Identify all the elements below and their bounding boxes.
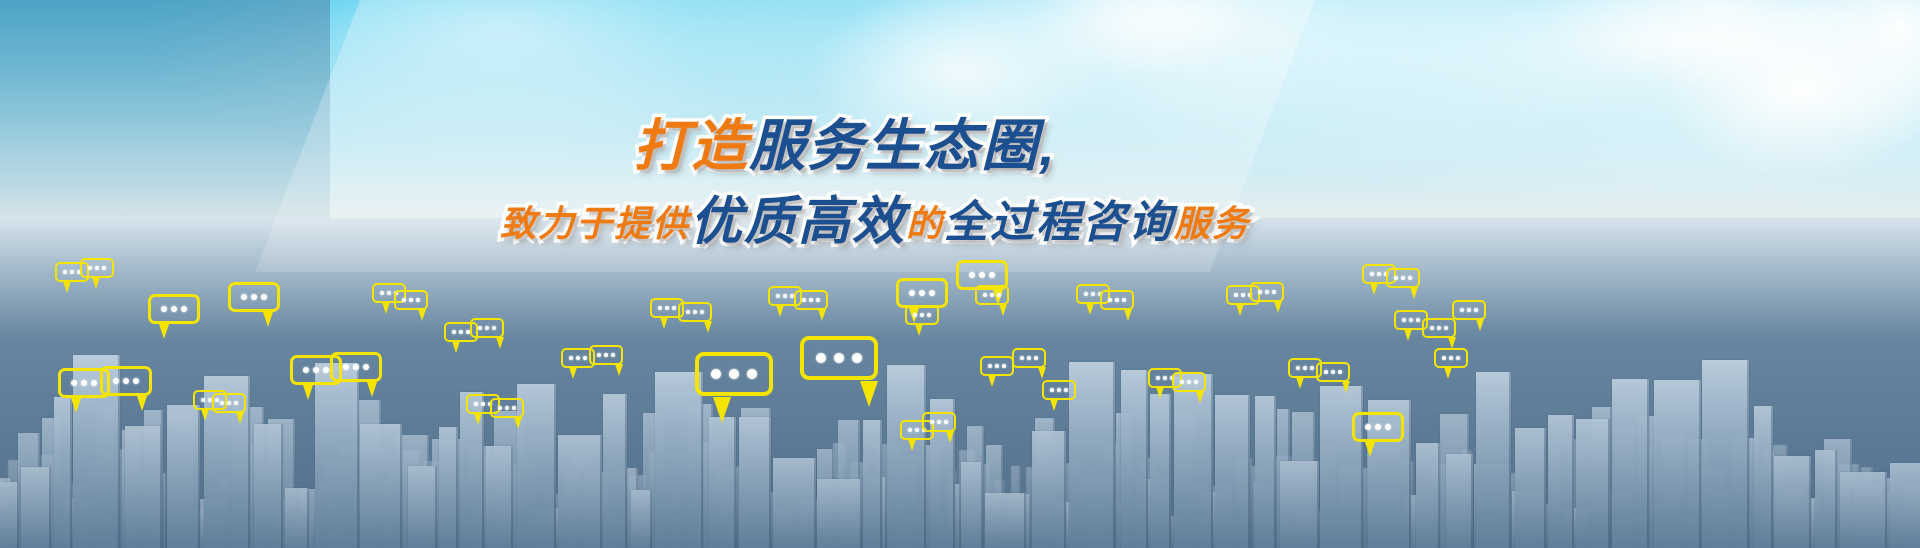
bubble-tail-icon [514, 417, 522, 429]
bubble-tail-icon [1476, 319, 1484, 331]
bubble-tail-icon [236, 412, 244, 424]
bubble-dot-icon [1187, 380, 1191, 384]
speech-bubble-icon [1012, 348, 1046, 368]
bubble-dot-icon [81, 380, 87, 386]
bubble-dot-icon [989, 272, 995, 278]
bubble-tail-icon [159, 324, 169, 339]
speech-bubble-icon [905, 305, 939, 325]
bubble-tail-icon [92, 277, 100, 289]
bubble-dot-icon [1467, 308, 1471, 312]
speech-bubble-icon [330, 352, 382, 382]
bubble-tail-icon [713, 397, 731, 423]
headline-line-1: 打造服务生态圈, [0, 118, 1920, 174]
bubble-dot-icon [1331, 370, 1335, 374]
speech-bubble-icon [1250, 282, 1284, 302]
bubble-dot-icon [937, 420, 941, 424]
bubble-dot-icon [809, 298, 813, 302]
bubble-tail-icon [1156, 387, 1164, 399]
headline-segment: 服务 [1174, 206, 1250, 242]
speech-bubble-icon [1434, 348, 1468, 368]
bubble-dot-icon [71, 380, 77, 386]
speech-bubble-icon [896, 278, 948, 308]
bubble-dot-icon [802, 298, 806, 302]
speech-bubble-icon [148, 294, 200, 324]
bubble-tail-icon [1086, 303, 1094, 315]
bubble-dot-icon [251, 294, 257, 300]
bubble-dot-icon [1310, 366, 1314, 370]
bubble-tail-icon [1050, 399, 1058, 411]
bubble-dot-icon [834, 353, 844, 363]
bubble-dot-icon [930, 420, 934, 424]
bubble-dot-icon [597, 353, 601, 357]
bubble-dot-icon [747, 369, 757, 379]
speech-bubble-icon [695, 352, 773, 396]
bubble-tail-icon [1296, 377, 1304, 389]
bubble-tail-icon [71, 398, 81, 413]
bubble-dot-icon [505, 406, 509, 410]
bubble-tail-icon [496, 337, 504, 349]
bubble-tail-icon [452, 341, 460, 353]
bubble-dot-icon [1456, 356, 1460, 360]
speech-bubble-icon [794, 290, 828, 310]
speech-bubble-icon [975, 285, 1009, 305]
bubble-dot-icon [604, 353, 608, 357]
bubble-tail-icon [915, 324, 923, 336]
bubble-tail-icon [1365, 442, 1375, 457]
bubble-dot-icon [909, 290, 915, 296]
bubble-dot-icon [343, 364, 349, 370]
bubble-dot-icon [113, 378, 119, 384]
bubble-dot-icon [990, 293, 994, 297]
bubble-tail-icon [908, 439, 916, 451]
speech-bubble-icon [212, 393, 246, 413]
bubble-tail-icon [660, 317, 668, 329]
bubble-tail-icon [201, 409, 209, 421]
bubble-tail-icon [1444, 367, 1452, 379]
speech-bubble-icon [470, 318, 504, 338]
bubble-tail-icon [1124, 309, 1132, 321]
bubble-dot-icon [1020, 356, 1024, 360]
bubble-tail-icon [704, 321, 712, 333]
speech-bubble-icon [1386, 268, 1420, 288]
bubble-dot-icon [220, 401, 224, 405]
bubble-tail-icon [1038, 367, 1046, 379]
headline-segment: 服务生态圈, [749, 118, 1057, 174]
speech-bubble-icon [1452, 300, 1486, 320]
bubble-tail-icon [1410, 287, 1418, 299]
bubble-dot-icon [1180, 380, 1184, 384]
bubble-tail-icon [1236, 304, 1244, 316]
bubble-tail-icon [999, 304, 1007, 316]
bubble-dot-icon [1265, 290, 1269, 294]
bubble-tail-icon [1342, 381, 1350, 393]
bubble-dot-icon [929, 290, 935, 296]
bubble-dot-icon [261, 294, 267, 300]
bubble-tail-icon [303, 385, 313, 400]
bubble-tail-icon [776, 305, 784, 317]
bubble-dot-icon [133, 378, 139, 384]
bubble-dot-icon [693, 310, 697, 314]
speech-bubble-icon [80, 258, 114, 278]
bubble-dot-icon [729, 369, 739, 379]
bubble-dot-icon [241, 294, 247, 300]
speech-bubble-icon [922, 412, 956, 432]
bubble-dot-icon [303, 367, 309, 373]
bubble-dot-icon [1385, 424, 1391, 430]
bubble-dot-icon [672, 306, 676, 310]
bubble-dot-icon [583, 356, 587, 360]
bubble-dot-icon [402, 298, 406, 302]
bubble-tail-icon [382, 302, 390, 314]
bubble-tail-icon [1404, 329, 1412, 341]
bubble-tail-icon [988, 375, 996, 387]
bubble-dot-icon [123, 378, 129, 384]
bubble-tail-icon [1370, 283, 1378, 295]
bubble-dot-icon [686, 310, 690, 314]
headline-line-2: 致力于提供优质高效的全过程咨询服务 [0, 196, 1920, 248]
bubble-tail-icon [1274, 301, 1282, 313]
bubble-dot-icon [1108, 298, 1112, 302]
bubble-dot-icon [181, 306, 187, 312]
speech-bubble-icon [394, 290, 428, 310]
bubble-dot-icon [919, 290, 925, 296]
bubble-dot-icon [1324, 370, 1328, 374]
bubble-tail-icon [1196, 391, 1204, 403]
bubble-dot-icon [1401, 276, 1405, 280]
speech-bubble-icon [800, 336, 878, 380]
bubble-dot-icon [711, 369, 721, 379]
headline-segment: 的 [906, 206, 944, 242]
speech-bubble-icon [980, 356, 1014, 376]
speech-bubble-icon [100, 366, 152, 396]
bubble-tail-icon [615, 364, 623, 376]
bubble-tail-icon [63, 281, 71, 293]
bubble-dot-icon [1064, 388, 1068, 392]
speech-bubble-icon [1100, 290, 1134, 310]
bubble-dot-icon [171, 306, 177, 312]
speech-bubble-icon [228, 282, 280, 312]
speech-bubble-icon [589, 345, 623, 365]
bubble-dot-icon [102, 266, 106, 270]
hero-banner: 打造服务生态圈, 致力于提供优质高效的全过程咨询服务 [0, 0, 1920, 548]
bubble-dot-icon [816, 353, 826, 363]
speech-bubble-icon [678, 302, 712, 322]
bubble-dot-icon [353, 364, 359, 370]
bubble-dot-icon [1460, 308, 1464, 312]
bubble-dot-icon [983, 293, 987, 297]
bubble-tail-icon [418, 309, 426, 321]
speech-bubble-icon [1422, 318, 1456, 338]
bubble-tail-icon [137, 396, 147, 411]
bubble-dot-icon [161, 306, 167, 312]
headline-segment: 优质高效 [690, 196, 906, 248]
bubble-dot-icon [1115, 298, 1119, 302]
headline-segment: 致力于提供 [500, 206, 690, 242]
speech-bubble-icon [1316, 362, 1350, 382]
bubble-dot-icon [313, 367, 319, 373]
bubble-dot-icon [1430, 326, 1434, 330]
bubble-dot-icon [1027, 356, 1031, 360]
bubble-dot-icon [409, 298, 413, 302]
bubble-tail-icon [367, 382, 377, 397]
bubble-dot-icon [852, 353, 862, 363]
bubble-dot-icon [478, 326, 482, 330]
bubble-dot-icon [485, 326, 489, 330]
bubble-dot-icon [1394, 276, 1398, 280]
bubble-dot-icon [227, 401, 231, 405]
bubble-dot-icon [363, 364, 369, 370]
headline-block: 打造服务生态圈, 致力于提供优质高效的全过程咨询服务 [0, 118, 1920, 248]
speech-bubble-icon [1172, 372, 1206, 392]
headline-segment: 打造 [633, 118, 749, 174]
bubble-tail-icon [474, 413, 482, 425]
bubble-tail-icon [946, 431, 954, 443]
bubble-dot-icon [1437, 326, 1441, 330]
bubble-dot-icon [498, 406, 502, 410]
bubble-dot-icon [969, 272, 975, 278]
bubble-tail-icon [818, 309, 826, 321]
speech-bubble-icon [490, 398, 524, 418]
bubble-dot-icon [1416, 318, 1420, 322]
bubble-dot-icon [1365, 424, 1371, 430]
bubble-tail-icon [569, 367, 577, 379]
bubble-dot-icon [1002, 364, 1006, 368]
headline-segment: 全过程咨询 [944, 201, 1174, 245]
bubble-dot-icon [91, 380, 97, 386]
bubble-dot-icon [927, 313, 931, 317]
bubble-dot-icon [1375, 424, 1381, 430]
bubble-tail-icon [860, 381, 878, 407]
bubble-dot-icon [1258, 290, 1262, 294]
bubble-dot-icon [979, 272, 985, 278]
speech-bubble-icon [1042, 380, 1076, 400]
bubble-tail-icon [263, 312, 273, 327]
speech-bubble-icon [1352, 412, 1404, 442]
bubble-dot-icon [323, 367, 329, 373]
